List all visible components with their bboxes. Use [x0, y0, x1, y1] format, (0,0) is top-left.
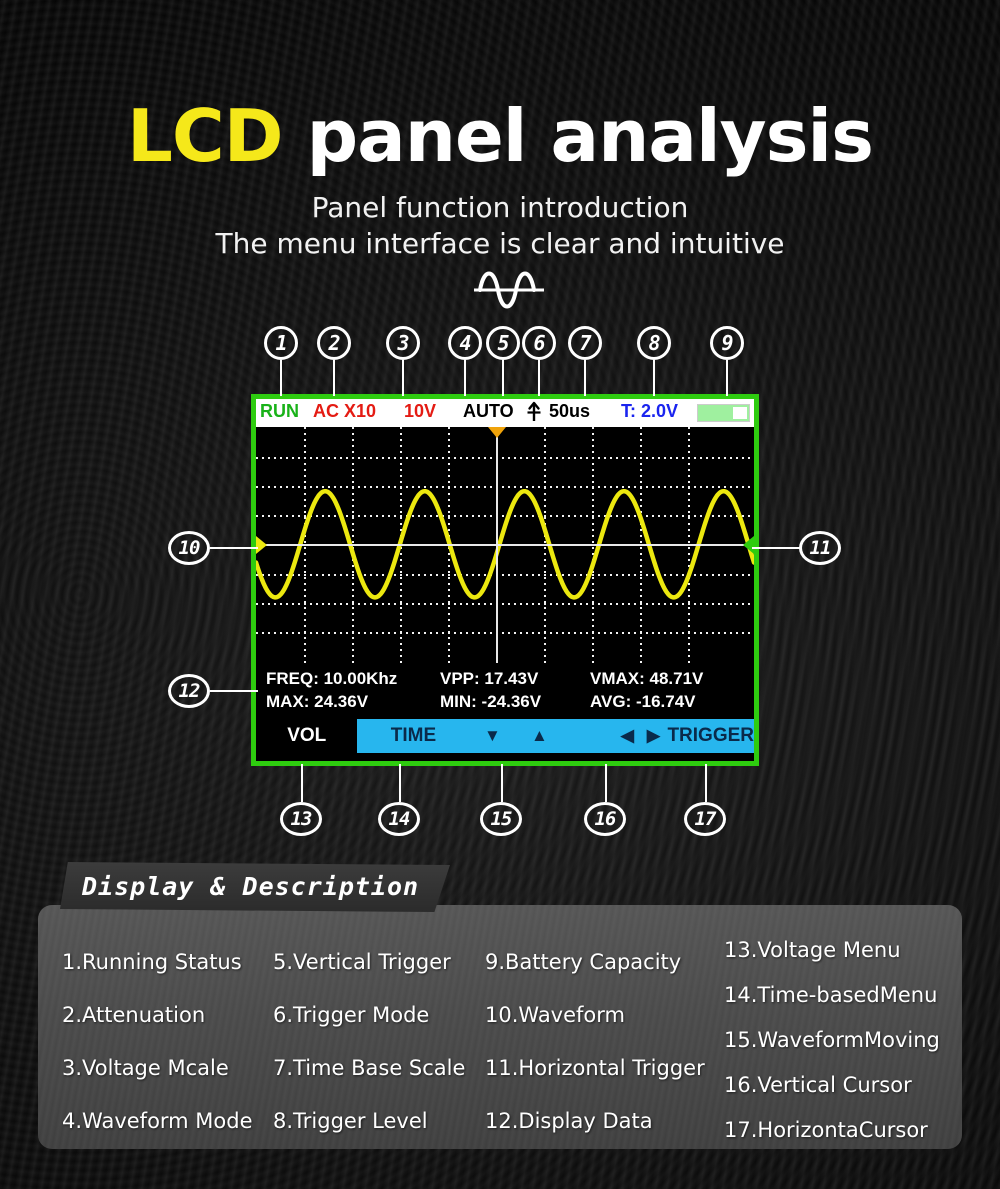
- callout-9-leader: [726, 360, 728, 396]
- list-item: 16.Vertical Cursor: [724, 1073, 940, 1097]
- callout-16: 16: [584, 802, 626, 836]
- horizontal-cursor-right-marker[interactable]: [743, 536, 754, 554]
- callout-3-leader: [402, 360, 404, 396]
- callout-11: 11: [799, 531, 841, 565]
- callout-15: 15: [480, 802, 522, 836]
- list-item: 10.Waveform: [485, 1003, 705, 1027]
- readout-max: MAX: 24.36V: [266, 690, 440, 713]
- callout-7: 7: [568, 326, 602, 360]
- status-run[interactable]: RUN: [260, 402, 299, 420]
- callout-13-leader: [301, 764, 303, 802]
- callout-12-leader: [210, 690, 258, 692]
- battery-icon: [697, 404, 750, 422]
- page-root: LCD panel analysis Panel function introd…: [0, 0, 1000, 1189]
- callout-8-leader: [653, 360, 655, 396]
- callout-17: 17: [684, 802, 726, 836]
- list-item: 12.Display Data: [485, 1109, 705, 1133]
- list-item: 11.Horizontal Trigger: [485, 1056, 705, 1080]
- callout-6-leader: [538, 360, 540, 396]
- description-banner-label: Display & Description: [82, 872, 419, 901]
- subtitle-line-2: The menu interface is clear and intuitiv…: [0, 226, 1000, 262]
- list-item: 17.HorizontaCursor: [724, 1118, 940, 1142]
- cursor-right-icon[interactable]: ▶: [639, 726, 667, 746]
- list-item: 13.Voltage Menu: [724, 938, 940, 962]
- horizontal-center-line: [256, 544, 754, 546]
- page-subtitle: Panel function introduction The menu int…: [0, 190, 1000, 262]
- rising-edge-icon[interactable]: [526, 400, 542, 425]
- callout-4-leader: [464, 360, 466, 396]
- callout-15-leader: [501, 764, 503, 802]
- callout-1-leader: [280, 360, 282, 396]
- vertical-trigger-line: [496, 427, 498, 663]
- status-attenuation[interactable]: AC X10: [313, 402, 376, 420]
- sine-wave-logo-icon: [466, 266, 552, 312]
- page-title: LCD panel analysis: [0, 96, 1000, 176]
- callout-10: 10: [168, 531, 210, 565]
- callout-3: 3: [386, 326, 420, 360]
- subtitle-line-1: Panel function introduction: [0, 190, 1000, 226]
- list-item: 2.Attenuation: [62, 1003, 253, 1027]
- readout-min: MIN: -24.36V: [440, 690, 590, 713]
- callout-4: 4: [448, 326, 482, 360]
- waveform-move-down-icon[interactable]: ▼: [469, 726, 515, 746]
- status-trigger-level[interactable]: T: 2.0V: [621, 402, 678, 420]
- callout-2: 2: [317, 326, 351, 360]
- readout-vpp: VPP: 17.43V: [440, 667, 590, 690]
- list-item: 1.Running Status: [62, 950, 253, 974]
- oscilloscope-screen: RUN AC X10 10V AUTO 50us T: 2.0V: [251, 394, 759, 766]
- title-rest: panel analysis: [283, 94, 873, 178]
- measurement-readout: FREQ: 10.00Khz VPP: 17.43V VMAX: 48.71V …: [256, 663, 754, 719]
- time-menu-group: TIME ▼ ▲ ◀ ▶ TRIGGER: [357, 719, 754, 753]
- trigger-menu-button[interactable]: TRIGGER: [667, 725, 754, 747]
- voltage-menu-button[interactable]: VOL: [256, 719, 357, 753]
- callout-7-leader: [584, 360, 586, 396]
- callout-16-leader: [605, 764, 607, 802]
- list-item: 14.Time-basedMenu: [724, 983, 940, 1007]
- callout-1: 1: [264, 326, 298, 360]
- cursor-left-icon[interactable]: ◀: [615, 726, 639, 746]
- title-highlight: LCD: [127, 94, 282, 178]
- list-item: 15.WaveformMoving: [724, 1028, 940, 1052]
- status-time-base[interactable]: 50us: [549, 402, 590, 420]
- description-banner: Display & Description: [60, 862, 450, 912]
- scope-status-bar: RUN AC X10 10V AUTO 50us T: 2.0V: [256, 399, 754, 427]
- description-column-1: 1.Running Status 2.Attenuation 3.Voltage…: [62, 950, 253, 1162]
- trigger-position-marker[interactable]: [488, 427, 506, 438]
- readout-freq: FREQ: 10.00Khz: [266, 667, 440, 690]
- description-column-3: 9.Battery Capacity 10.Waveform 11.Horizo…: [485, 950, 705, 1162]
- list-item: 3.Voltage Mcale: [62, 1056, 253, 1080]
- callout-6: 6: [522, 326, 556, 360]
- description-column-4: 13.Voltage Menu 14.Time-basedMenu 15.Wav…: [724, 938, 940, 1163]
- callout-5-leader: [502, 360, 504, 396]
- callout-12: 12: [168, 674, 210, 708]
- readout-vmax: VMAX: 48.71V: [590, 667, 703, 690]
- callout-17-leader: [705, 764, 707, 802]
- status-waveform-mode[interactable]: AUTO: [463, 402, 514, 420]
- callout-10-leader: [210, 547, 258, 549]
- description-column-2: 5.Vertical Trigger 6.Trigger Mode 7.Time…: [273, 950, 465, 1162]
- list-item: 8.Trigger Level: [273, 1109, 465, 1133]
- list-item: 5.Vertical Trigger: [273, 950, 465, 974]
- scope-menu-bar: VOL TIME ▼ ▲ ◀ ▶ TRIGGER: [256, 719, 754, 753]
- list-item: 4.Waveform Mode: [62, 1109, 253, 1133]
- callout-13: 13: [280, 802, 322, 836]
- list-item: 7.Time Base Scale: [273, 1056, 465, 1080]
- readout-avg: AVG: -16.74V: [590, 690, 696, 713]
- waveform-move-up-icon[interactable]: ▲: [515, 726, 563, 746]
- callout-9: 9: [710, 326, 744, 360]
- callout-14-leader: [399, 764, 401, 802]
- status-voltage-scale[interactable]: 10V: [404, 402, 436, 420]
- horizontal-cursor-left-marker[interactable]: [256, 536, 267, 554]
- list-item: 6.Trigger Mode: [273, 1003, 465, 1027]
- callout-11-leader: [752, 547, 800, 549]
- callout-5: 5: [486, 326, 520, 360]
- waveform-plot[interactable]: [256, 427, 754, 663]
- list-item: 9.Battery Capacity: [485, 950, 705, 974]
- callout-2-leader: [333, 360, 335, 396]
- callout-14: 14: [378, 802, 420, 836]
- time-menu-button[interactable]: TIME: [357, 725, 469, 747]
- callout-8: 8: [637, 326, 671, 360]
